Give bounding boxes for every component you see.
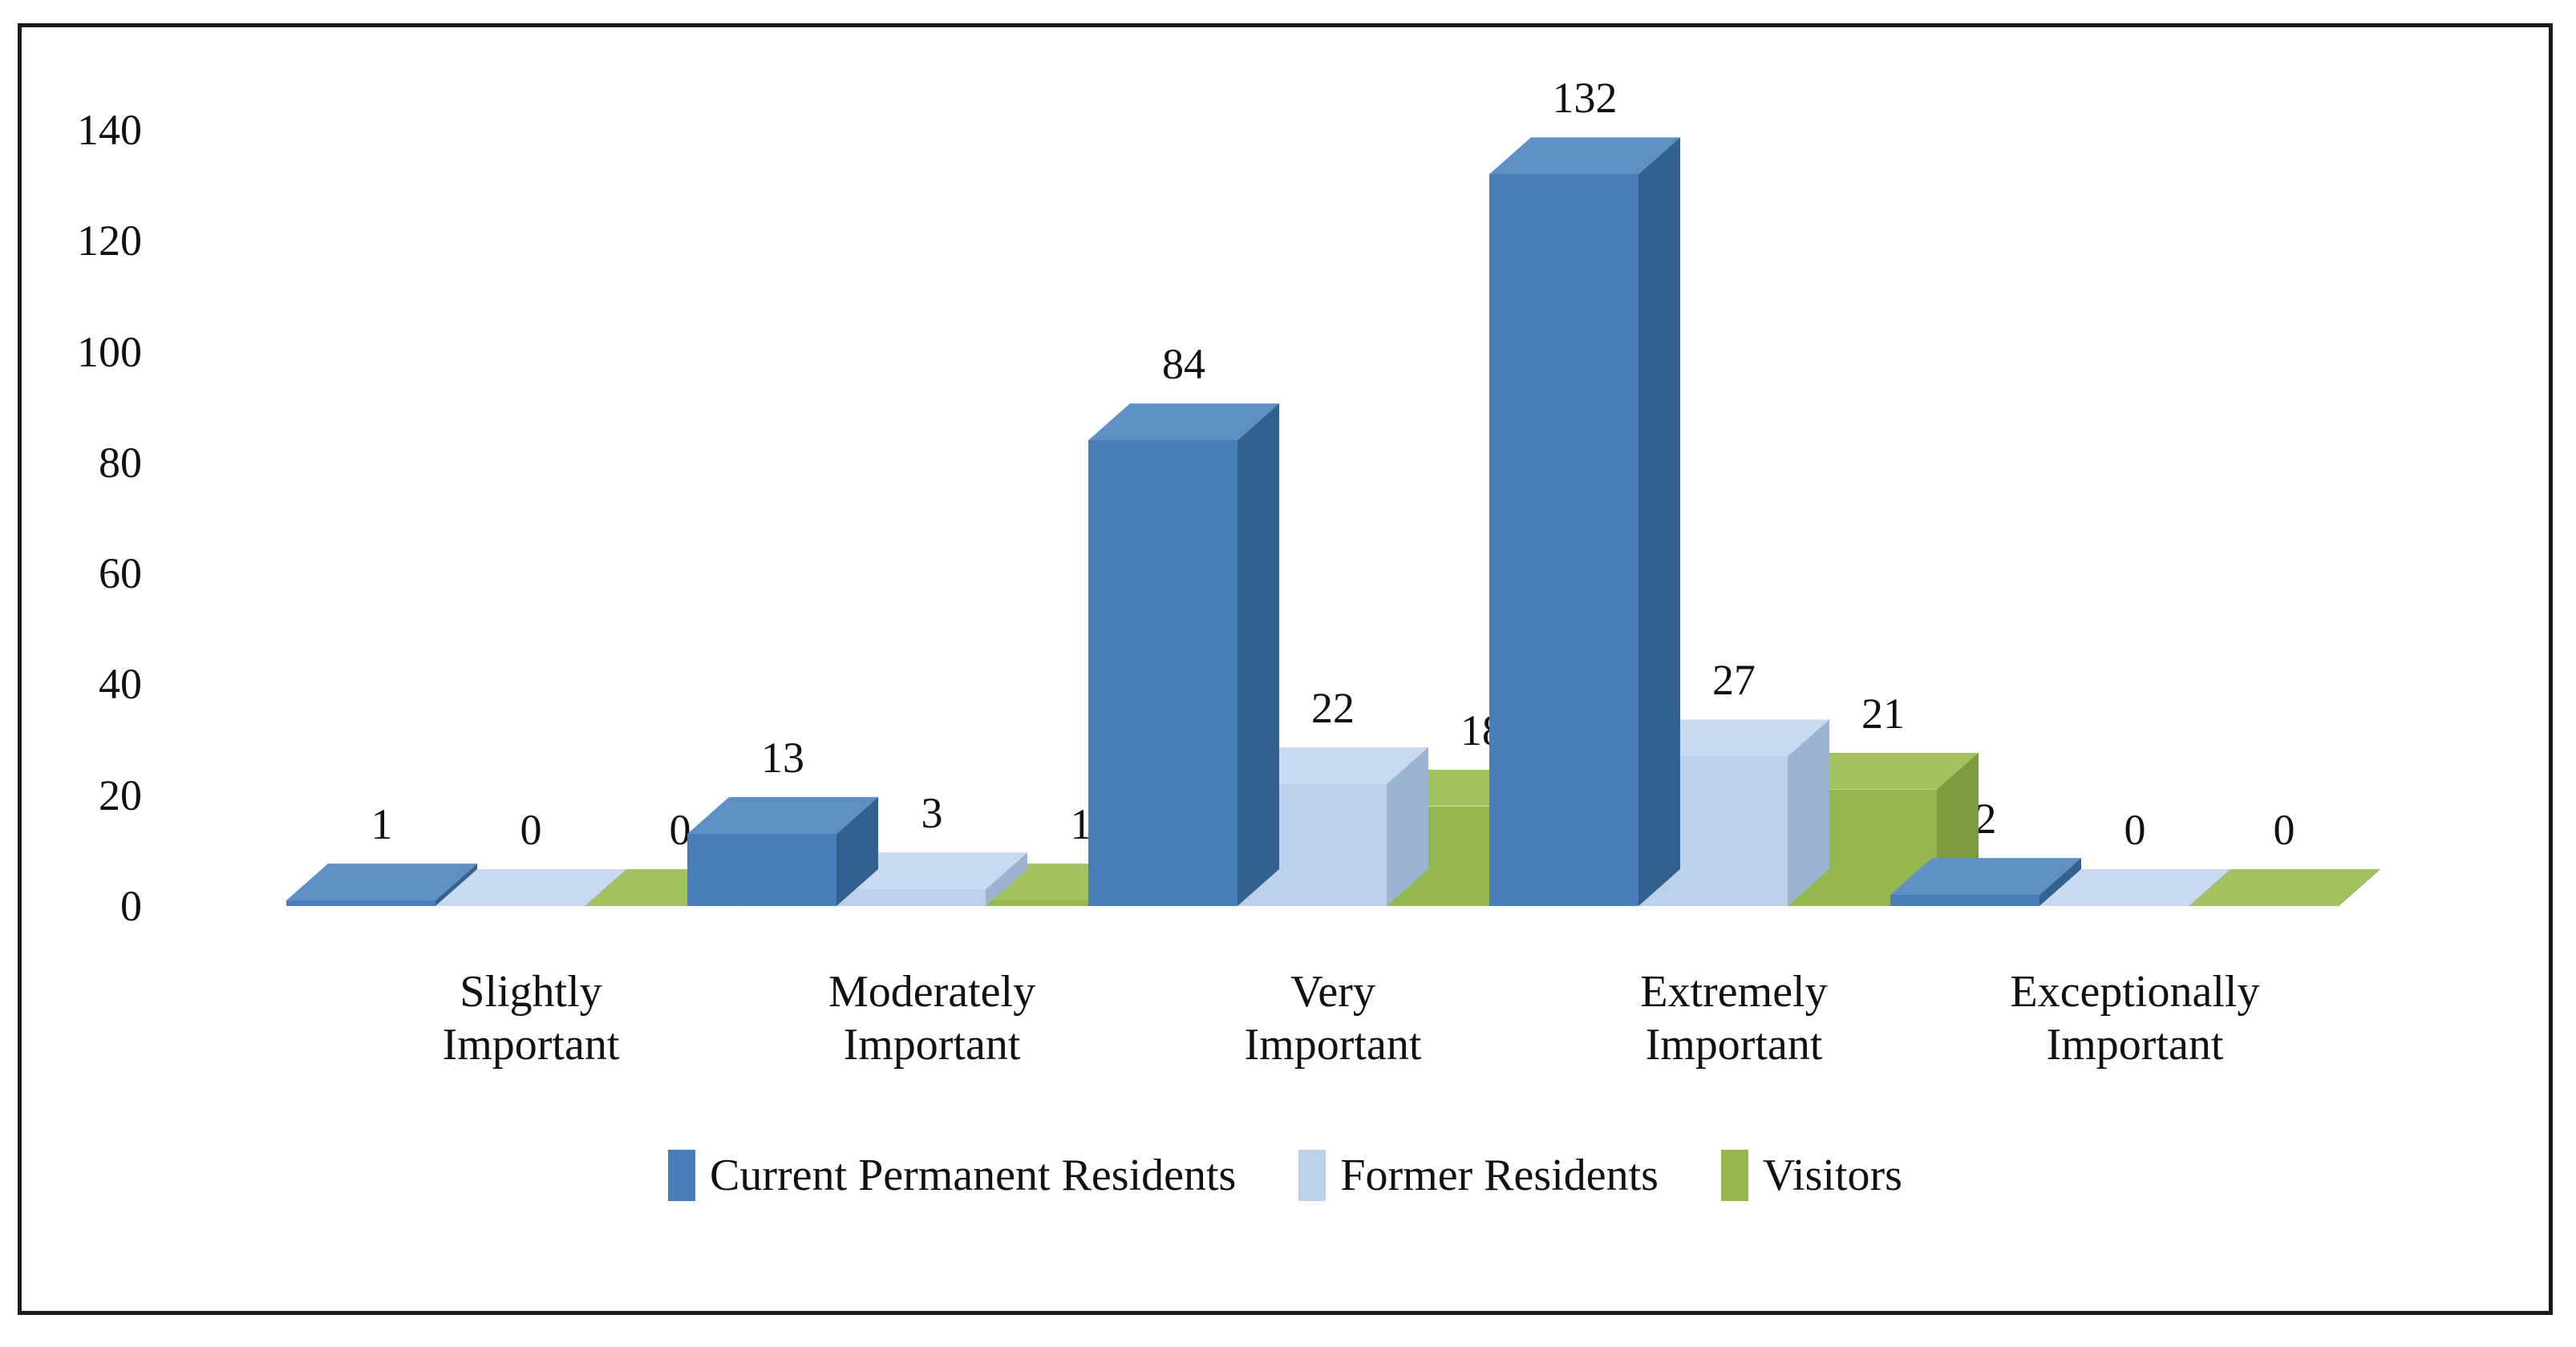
bar-front-face [1890, 895, 2039, 906]
chart-legend: Current Permanent ResidentsFormer Reside… [22, 1150, 2549, 1201]
x-axis-label-line: Very [1124, 965, 1541, 1018]
y-axis-tick-label: 120 [22, 219, 142, 262]
bar-side-face [1237, 403, 1279, 906]
x-axis-label-line: Exceptionally [1926, 965, 2343, 1018]
x-axis-label-1: ModeratelyImportant [723, 965, 1140, 1071]
bar-0-0 [286, 900, 435, 906]
x-axis-label-4: ExceptionallyImportant [1926, 965, 2343, 1071]
bar-front-face [1489, 174, 1638, 906]
legend-swatch-icon [1298, 1150, 1326, 1201]
y-axis-tick-label: 80 [22, 441, 142, 484]
bar-2-0 [1088, 440, 1237, 906]
legend-label: Visitors [1763, 1153, 1902, 1198]
y-axis-tick-label: 0 [22, 884, 142, 928]
legend-item-1[interactable]: Former Residents [1298, 1150, 1659, 1201]
bar-4-2 [2189, 906, 2338, 907]
legend-item-2[interactable]: Visitors [1721, 1150, 1902, 1201]
x-axis-label-line: Moderately [723, 965, 1140, 1018]
bar-0-1 [435, 906, 585, 907]
bar-4-1 [2039, 906, 2189, 907]
legend-item-0[interactable]: Current Permanent Residents [668, 1150, 1236, 1201]
bar-front-face [1088, 440, 1237, 906]
chart-frame: 140120100806040200 001131318228421271320… [18, 23, 2553, 1315]
y-axis-tick-label: 40 [22, 662, 142, 706]
legend-label: Current Permanent Residents [710, 1153, 1236, 1198]
y-axis-tick-label: 100 [22, 330, 142, 374]
bar-front-face [286, 900, 435, 906]
legend-swatch-icon [668, 1150, 695, 1201]
bar-1-0 [687, 834, 836, 906]
y-axis-tick-label: 60 [22, 552, 142, 595]
bar-4-0 [1890, 895, 2039, 906]
chart-plot-area: 140120100806040200 001131318228421271320… [22, 27, 2549, 1311]
bar-3-0 [1489, 174, 1638, 906]
legend-label: Former Residents [1340, 1153, 1659, 1198]
legend-swatch-icon [1721, 1150, 1748, 1201]
bar-side-face [1638, 137, 1680, 906]
bar-value-label: 132 [1489, 76, 1680, 119]
bar-1-1 [836, 889, 986, 906]
x-axis-label-line: Important [1926, 1018, 2343, 1071]
x-axis-label-2: VeryImportant [1124, 965, 1541, 1071]
x-axis-label-0: SlightlyImportant [322, 965, 739, 1071]
bar-value-label: 1 [286, 803, 477, 846]
x-axis-label-line: Important [1124, 1018, 1541, 1071]
y-axis-tick-label: 140 [22, 108, 142, 152]
x-axis-label-line: Extremely [1525, 965, 1942, 1018]
bar-0-2 [585, 906, 734, 907]
x-axis-label-3: ExtremelyImportant [1525, 965, 1942, 1071]
x-axis-label-line: Important [723, 1018, 1140, 1071]
bar-value-label: 13 [687, 736, 878, 779]
x-axis-label-line: Important [322, 1018, 739, 1071]
bar-front-face [836, 889, 986, 906]
x-axis-label-line: Slightly [322, 965, 739, 1018]
bar-front-face [687, 834, 836, 906]
y-axis-tick-label: 20 [22, 774, 142, 817]
bar-value-label: 84 [1088, 342, 1279, 386]
x-axis-label-line: Important [1525, 1018, 1942, 1071]
